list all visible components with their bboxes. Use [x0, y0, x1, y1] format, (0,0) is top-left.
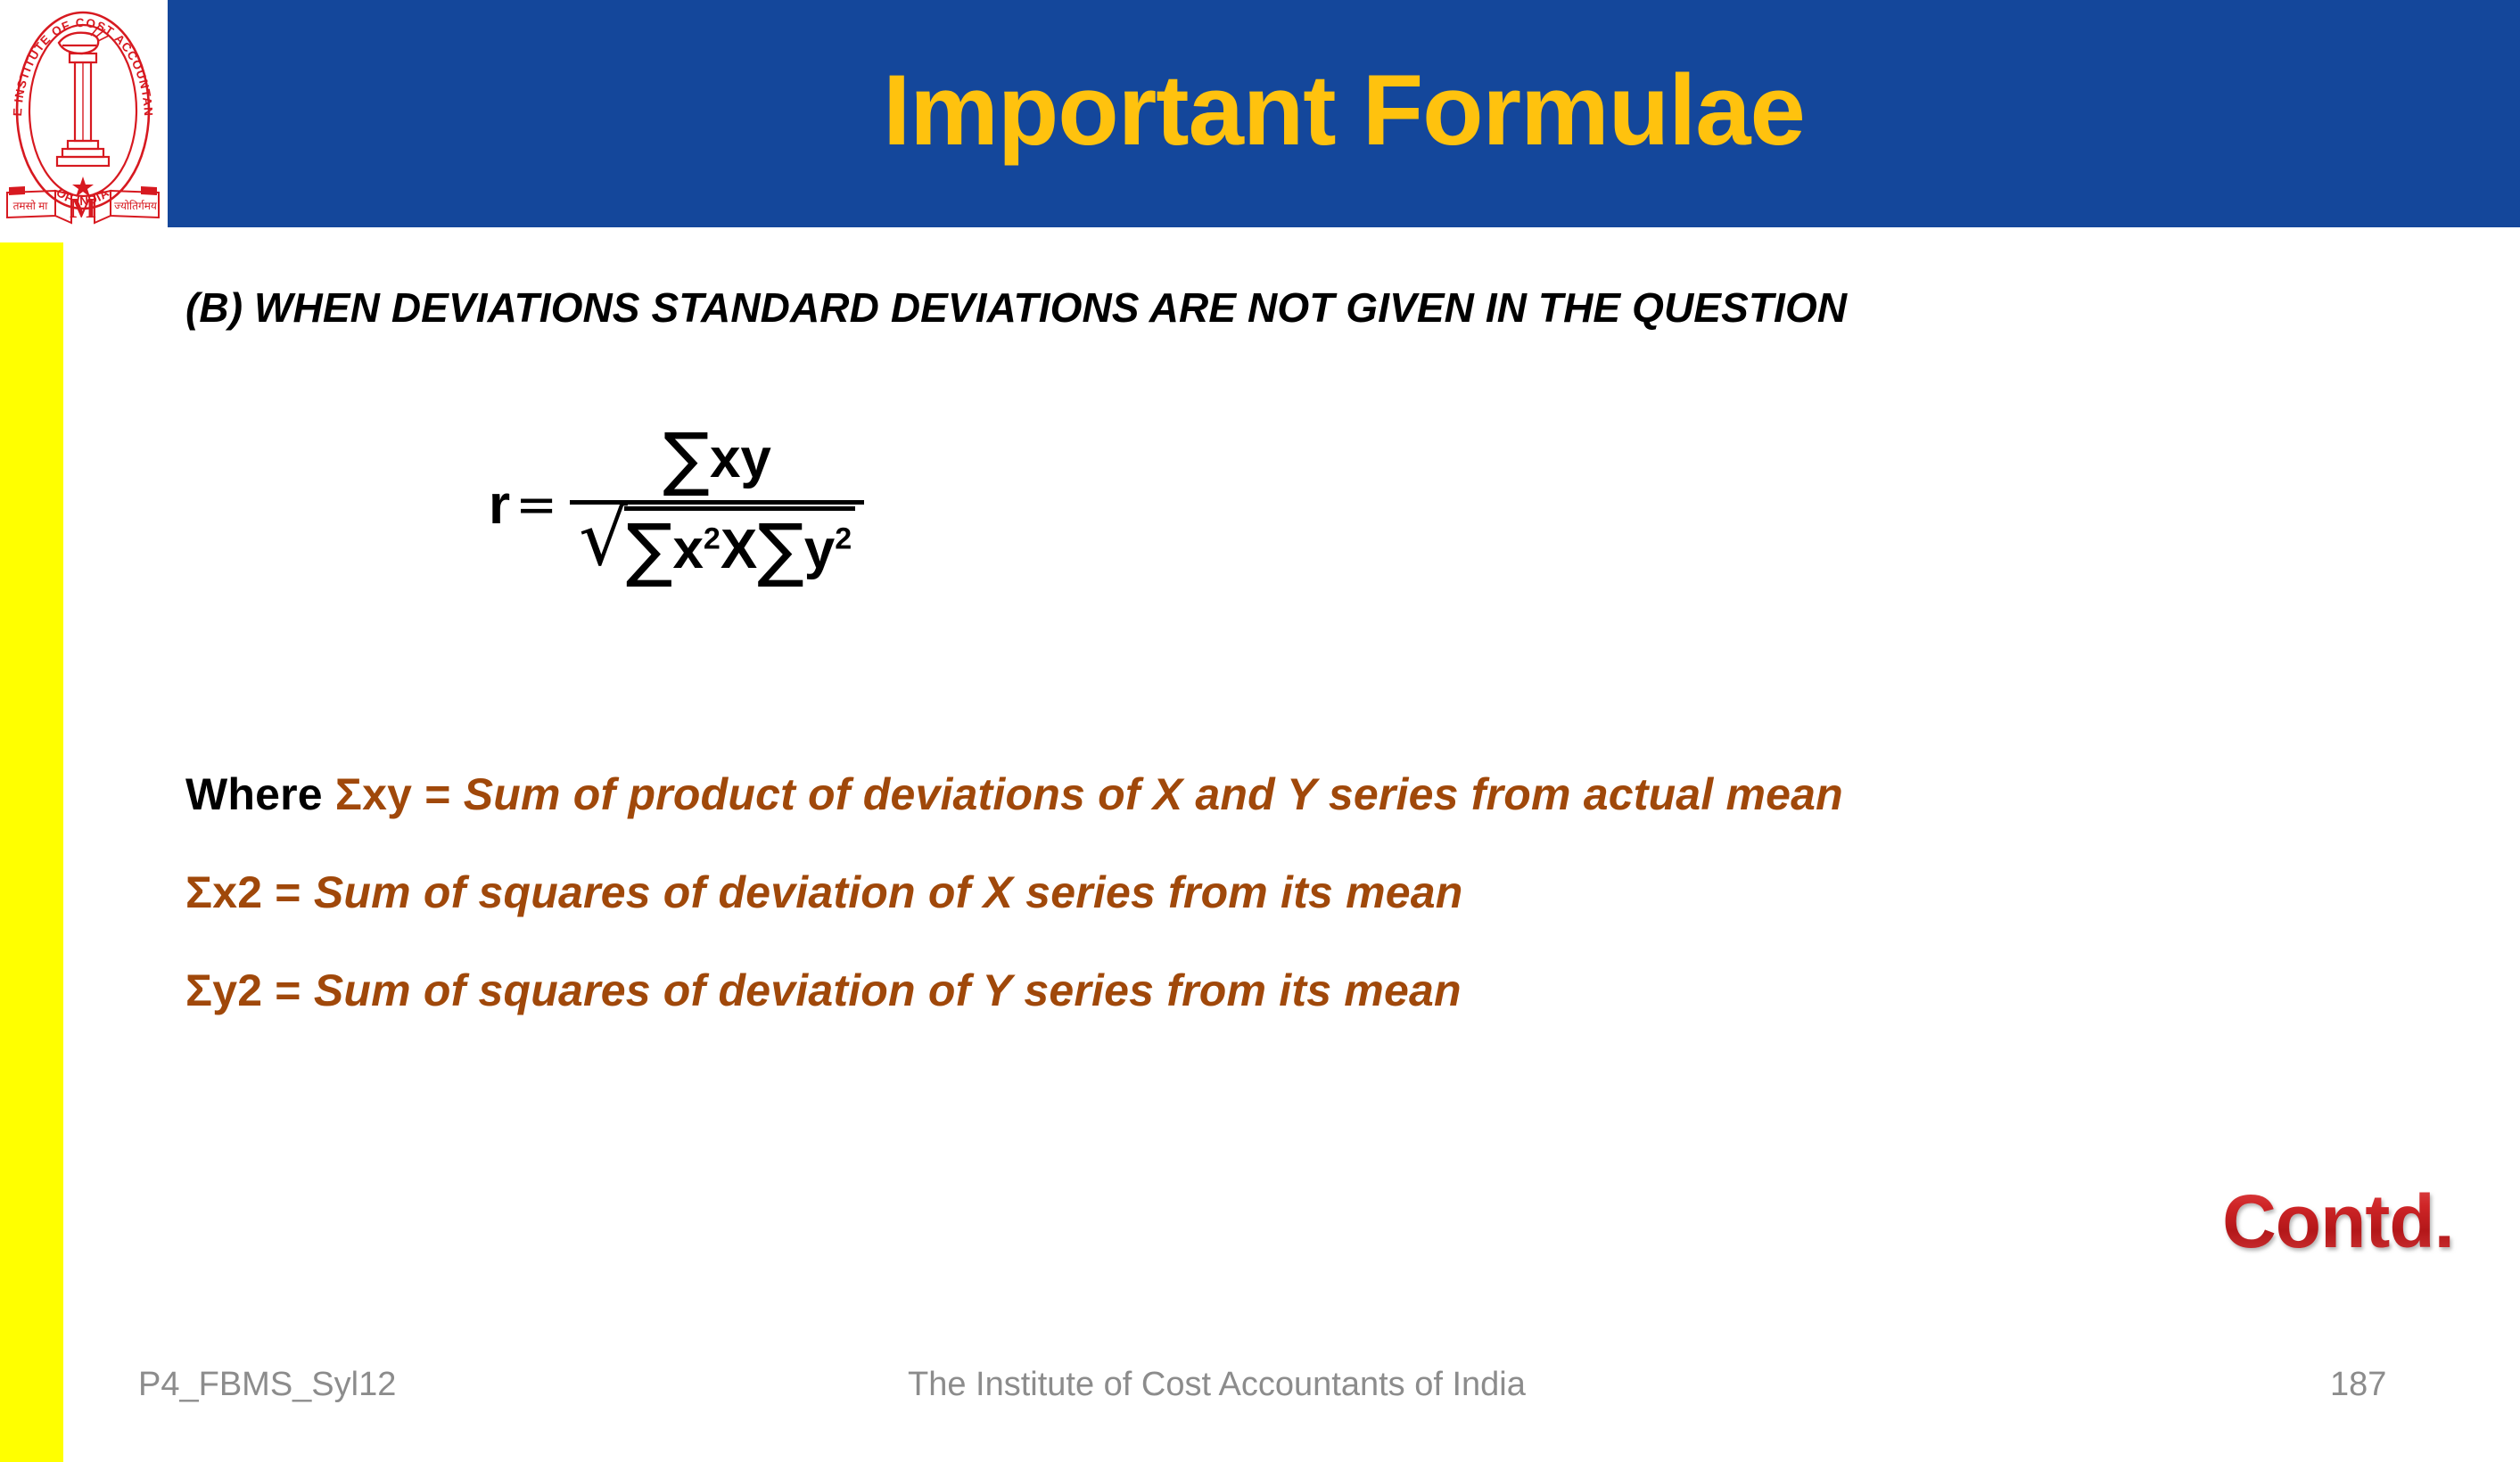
- where-term-2: Σx2 =: [185, 867, 314, 917]
- summation-icon: ∑: [663, 419, 710, 499]
- continued-label: Contd.: [2222, 1179, 2454, 1265]
- institute-logo-icon: THE INSTITUTE OF COST ACCOUNTANTS OF IND…: [4, 2, 162, 232]
- where-definition-line-1: Where Σxy = Sum of product of deviations…: [185, 768, 1843, 820]
- formula-equals-sign: =: [515, 480, 570, 530]
- svg-text:THE INSTITUTE OF COST ACCOUNTA: THE INSTITUTE OF COST ACCOUNTANTS: [4, 2, 155, 117]
- section-subtitle: (B) WHEN DEVIATIONS STANDARD DEVIATIONS …: [185, 283, 2415, 332]
- den-term-x: x: [672, 519, 703, 580]
- square-root-icon: √: [579, 506, 628, 572]
- den-exponent-y: 2: [835, 522, 852, 556]
- svg-text:तमसो मा: तमसो मा: [13, 200, 49, 212]
- left-accent-bar: [0, 242, 63, 1462]
- numerator-term: xy: [710, 428, 771, 489]
- where-text-2: Sum of squares of deviation of X series …: [314, 867, 1463, 917]
- formula-lhs: r: [489, 478, 515, 533]
- correlation-coefficient-formula: r = ∑xy √ ∑x2X∑y2: [489, 421, 864, 589]
- footer-organization: The Institute of Cost Accountants of Ind…: [908, 1366, 1526, 1404]
- formula-denominator: √ ∑x2X∑y2: [570, 505, 864, 589]
- where-definition-line-3: Σy2 = Sum of squares of deviation of Y s…: [185, 965, 1462, 1016]
- where-text-1: Sum of product of deviations of X and Y …: [464, 769, 1843, 819]
- den-exponent-x: 2: [704, 522, 721, 556]
- where-term-3: Σy2 =: [185, 965, 314, 1015]
- svg-text:M: M: [70, 192, 96, 224]
- footer-page-number: 187: [2330, 1366, 2386, 1404]
- formula-numerator: ∑xy: [570, 421, 864, 500]
- square-root-group: √ ∑x2X∑y2: [579, 506, 855, 589]
- page-title: Important Formulae: [168, 0, 2520, 227]
- summation-icon-2: ∑: [626, 510, 673, 590]
- where-label: Where: [185, 769, 323, 819]
- summation-icon-3: ∑: [757, 510, 804, 590]
- den-term-y: y: [804, 519, 835, 580]
- footer-course-code: P4_FBMS_Syl12: [138, 1366, 396, 1404]
- svg-text:ज्योतिर्गमय: ज्योतिर्गमय: [114, 200, 158, 212]
- formula-fraction: ∑xy √ ∑x2X∑y2: [570, 421, 864, 589]
- where-term-1: Σxy =: [335, 769, 464, 819]
- where-definition-line-2: Σx2 = Sum of squares of deviation of X s…: [185, 867, 1463, 918]
- where-text-3: Sum of squares of deviation of Y series …: [314, 965, 1462, 1015]
- radicand: ∑x2X∑y2: [624, 506, 855, 589]
- den-multiply-operator: X: [721, 519, 757, 580]
